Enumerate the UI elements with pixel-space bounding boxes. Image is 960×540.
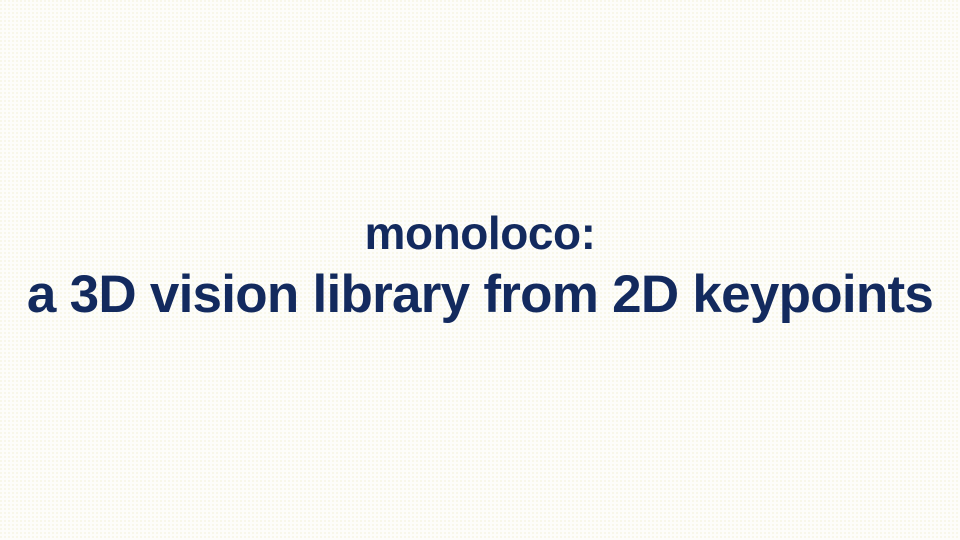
title-line-primary: monoloco: [365, 206, 596, 260]
title-line-secondary: a 3D vision library from 2D keypoints [27, 264, 933, 326]
title-slide: monoloco: a 3D vision library from 2D ke… [0, 0, 960, 540]
title-block: monoloco: a 3D vision library from 2D ke… [0, 0, 960, 540]
